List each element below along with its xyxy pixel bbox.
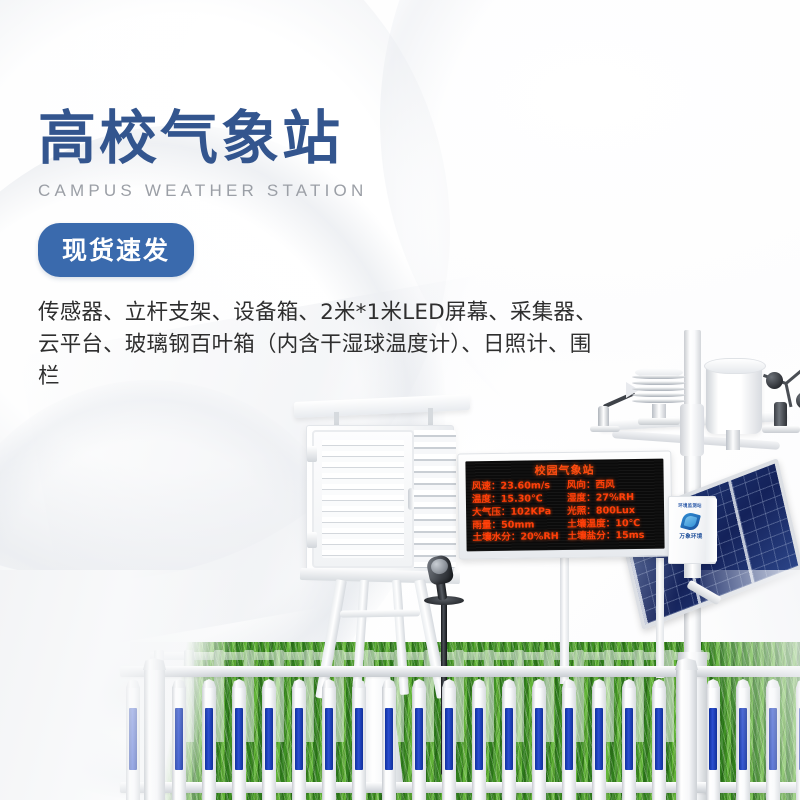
rain-gauge: [706, 364, 762, 434]
shelter-leg-brace: [340, 609, 420, 617]
product-description: 传感器、立杆支架、设备箱、2米*1米LED屏幕、采集器、云平台、玻璃钢百叶箱（内…: [38, 297, 598, 392]
fence-post: [676, 668, 697, 800]
radiation-shield-base: [638, 418, 680, 425]
fence-post: [144, 668, 165, 800]
fence-rail-top: [120, 666, 800, 677]
led-reading: 土壤盐分：15ms: [567, 530, 658, 544]
led-readings-grid: 风速：23.60m/s 风向：西风 温度：15.30℃ 湿度：27%RH 大气压…: [472, 479, 659, 545]
led-reading: 大气压：102KPa: [472, 506, 563, 520]
equipment-box-label: 环境监测站: [671, 503, 709, 509]
stevenson-screen-door: [312, 430, 414, 568]
led-reading: 土壤水分：20%RH: [472, 531, 563, 545]
led-reading: 湿度：27%RH: [567, 492, 658, 506]
roof-post-right: [428, 408, 433, 426]
led-reading: 光照：800Lux: [567, 504, 658, 518]
status-badge: 现货速发: [38, 223, 194, 277]
poster-stage: 高校气象站 CAMPUS WEATHER STATION 现货速发 传感器、立杆…: [0, 0, 800, 800]
brand-name: 万象环境: [670, 532, 712, 540]
page-subtitle: CAMPUS WEATHER STATION: [38, 181, 638, 201]
header-block: 高校气象站 CAMPUS WEATHER STATION 现货速发 传感器、立杆…: [38, 108, 638, 392]
led-screen: 校园气象站 风速：23.60m/s 风向：西风 温度：15.30℃ 湿度：27%…: [465, 459, 664, 552]
anemometer-base: [762, 426, 800, 433]
led-display-panel: 校园气象站 风速：23.60m/s 风向：西风 温度：15.30℃ 湿度：27%…: [457, 451, 672, 560]
perimeter-fence: [120, 648, 800, 800]
wind-vane-body: [598, 406, 609, 428]
stevenson-screen-hinge-bottom: [307, 532, 317, 548]
brand-logo-icon: [682, 513, 699, 530]
led-reading: 土壤温度：10℃: [567, 517, 658, 531]
anemometer-body: [774, 402, 787, 428]
equipment-box-mount: [684, 564, 701, 578]
stevenson-screen-hinge-top: [307, 446, 317, 462]
led-title: 校园气象站: [471, 463, 657, 480]
wind-vane-base: [590, 426, 620, 432]
led-reading: 风向：西风: [567, 479, 658, 493]
rain-gauge-stem: [726, 430, 740, 450]
page-title: 高校气象站: [38, 108, 638, 169]
stevenson-screen-louvers: [414, 430, 456, 568]
led-reading: 风速：23.60m/s: [472, 480, 563, 494]
led-reading: 温度：15.30℃: [472, 493, 563, 507]
fence-rail-bottom: [120, 782, 800, 793]
radiation-shield-icon: [632, 373, 686, 407]
stevenson-screen-roof: [294, 394, 471, 418]
stevenson-screen-handle: [408, 488, 414, 510]
crossarm-hub: [680, 404, 704, 456]
